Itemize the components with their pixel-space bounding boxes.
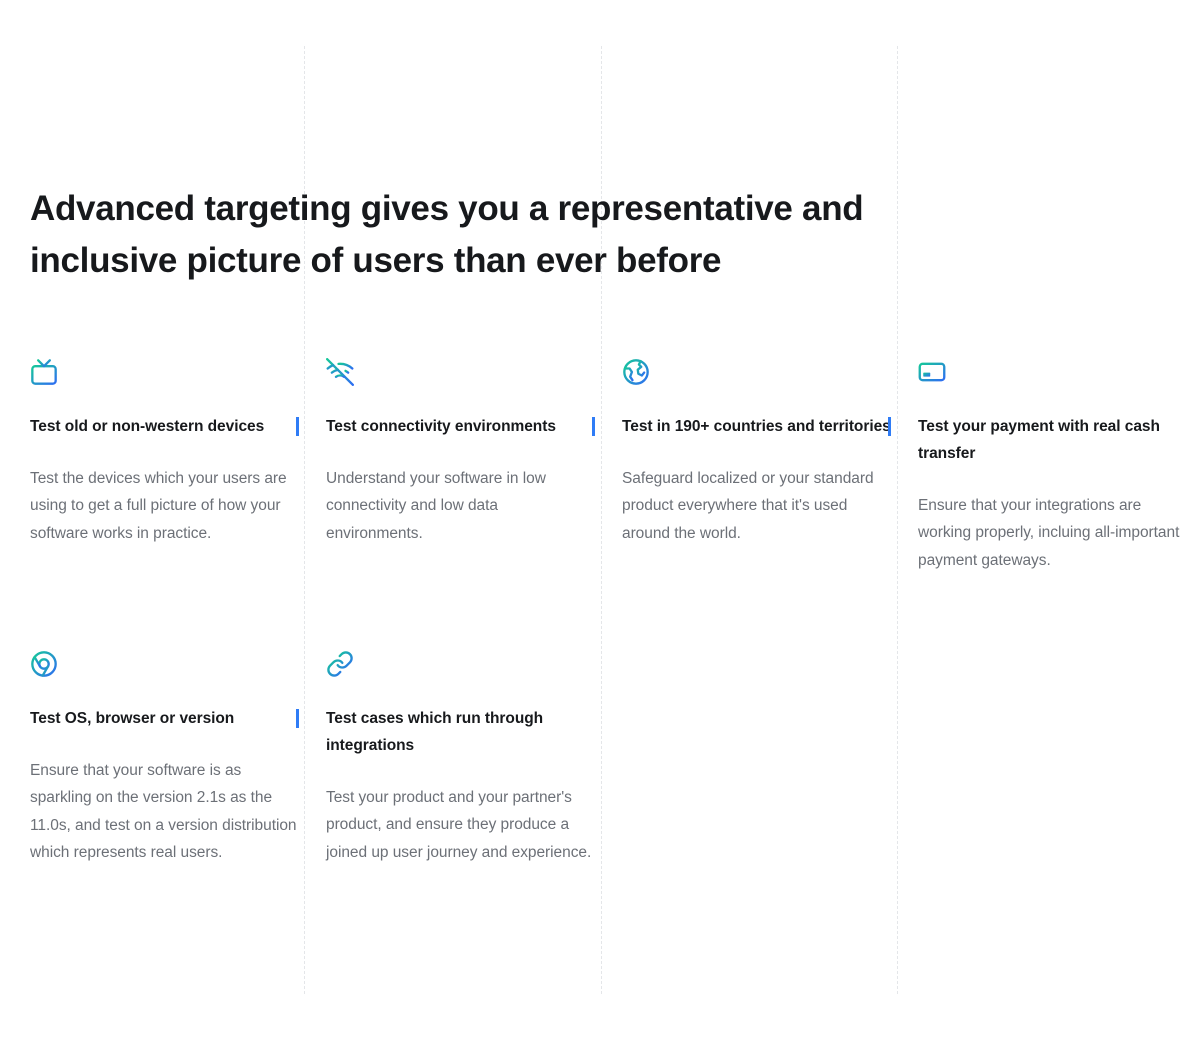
feature-card-body: Test the devices which your users are us… <box>30 465 302 547</box>
feature-card-body: Ensure that your integrations are workin… <box>918 492 1190 574</box>
credit-card-icon <box>918 358 946 386</box>
feature-card-tv: Test old or non-western devices Test the… <box>30 358 302 547</box>
globe-icon <box>622 358 650 386</box>
feature-card-countries: Test in 190+ countries and territories S… <box>622 358 894 547</box>
feature-card-title: Test your payment with real cash transfe… <box>918 413 1190 467</box>
feature-card-title-text: Test old or non-western devices <box>30 418 264 435</box>
link-icon <box>326 650 354 678</box>
feature-card-title-text: Test OS, browser or version <box>30 710 234 727</box>
feature-card-integrations: Test cases which run through integration… <box>326 650 598 866</box>
feature-card-connectivity: Test connectivity environments Understan… <box>326 358 598 547</box>
section-heading: Advanced targeting gives you a represent… <box>30 183 910 287</box>
feature-card-title-text: Test in 190+ countries and territories <box>622 418 891 435</box>
feature-card-title-text: Test connectivity environments <box>326 418 556 435</box>
feature-card-grid: Test old or non-western devices Test the… <box>0 358 1200 942</box>
feature-card-payment: Test your payment with real cash transfe… <box>918 358 1190 574</box>
feature-card-body: Test your product and your partner's pro… <box>326 784 598 866</box>
feature-card-title: Test cases which run through integration… <box>326 705 598 759</box>
feature-card-title-text: Test cases which run through integration… <box>326 710 543 754</box>
feature-card-title: Test OS, browser or version <box>30 705 302 732</box>
accent-bar <box>592 417 595 436</box>
tv-icon <box>30 358 58 386</box>
chrome-browser-icon <box>30 650 58 678</box>
feature-card-title: Test connectivity environments <box>326 413 598 440</box>
feature-card-title: Test old or non-western devices <box>30 413 302 440</box>
accent-bar <box>296 417 299 436</box>
feature-card-title-text: Test your payment with real cash transfe… <box>918 418 1160 462</box>
feature-row-2: Test OS, browser or version Ensure that … <box>0 650 1200 942</box>
advanced-targeting-section: Advanced targeting gives you a represent… <box>0 0 1200 1044</box>
accent-bar <box>296 709 299 728</box>
feature-row-1: Test old or non-western devices Test the… <box>0 358 1200 650</box>
feature-card-body: Safeguard localized or your standard pro… <box>622 465 894 547</box>
feature-card-title: Test in 190+ countries and territories <box>622 413 894 440</box>
feature-card-body: Ensure that your software is as sparklin… <box>30 757 302 866</box>
accent-bar <box>888 417 891 436</box>
feature-card-body: Understand your software in low connecti… <box>326 465 598 547</box>
feature-card-browser: Test OS, browser or version Ensure that … <box>30 650 302 866</box>
wifi-off-icon <box>326 358 354 386</box>
